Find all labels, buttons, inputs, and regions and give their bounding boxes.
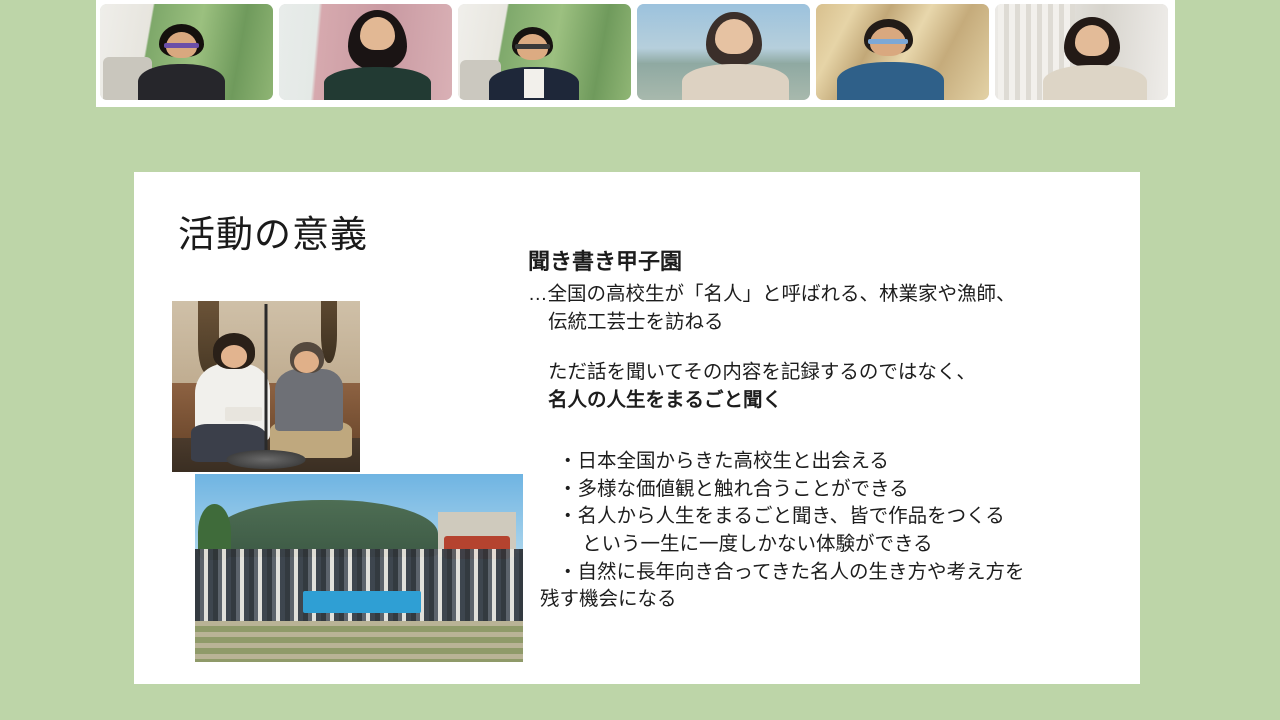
slide-paragraph-3: ただ話を聞いてその内容を記録するのではなく、 <box>528 358 1128 386</box>
slide-bullet-2: ・多様な価値観と触れ合うことができる <box>554 476 1154 504</box>
tile-body <box>837 62 944 100</box>
slide-bullet-1: ・日本全国からきた高校生と出会える <box>554 448 1154 476</box>
tile-body <box>1043 65 1147 100</box>
tile-body <box>682 64 789 100</box>
slide-title: 活動の意義 <box>178 204 368 258</box>
slide-bullet-3: ・名人から人生をまるごと聞き、皆で作品をつくる <box>554 503 1154 531</box>
slide-bullet-list: ・日本全国からきた高校生と出会える ・多様な価値観と触れ合うことができる ・名人… <box>554 448 1154 614</box>
video-tile-participant-2[interactable] <box>279 4 452 100</box>
photo-person-left-face <box>221 345 247 367</box>
slide-paragraph-4: 名人の人生をまるごと聞く <box>528 386 1128 414</box>
presentation-slide: 活動の意義 聞き書き甲子園 …全国の高校生が「名人」と呼ばれる、林業家や漁師、 … <box>134 172 1140 684</box>
tile-glasses-icon <box>515 44 550 49</box>
video-tile-participant-5[interactable] <box>816 4 989 100</box>
photo-banner <box>303 591 421 614</box>
slide-bullet-4: ・自然に長年向き合ってきた名人の生き方や考え方を <box>554 559 1154 587</box>
video-tile-participant-3[interactable] <box>458 4 631 100</box>
photo-microphone-stand <box>265 304 268 461</box>
paragraph-spacer <box>528 336 1128 358</box>
photo-ground <box>195 621 523 662</box>
photo-crowd <box>195 549 523 624</box>
photo-notebook <box>225 407 263 421</box>
photo-microphone-base <box>227 450 306 469</box>
participant-video-strip <box>96 0 1175 107</box>
slide-paragraph-2: 伝統工芸士を訪ねる <box>528 308 1128 336</box>
tile-body <box>138 64 225 100</box>
video-tile-participant-1[interactable] <box>100 4 273 100</box>
video-tile-participant-4[interactable] <box>637 4 810 100</box>
tile-collar <box>524 69 545 98</box>
photo-person-right-body <box>275 369 343 431</box>
photo-person-right-face <box>294 351 318 373</box>
tile-face <box>360 17 395 50</box>
tile-face <box>1075 25 1110 56</box>
slide-text-column: 聞き書き甲子園 …全国の高校生が「名人」と呼ばれる、林業家や漁師、 伝統工芸士を… <box>528 248 1128 415</box>
video-tile-participant-6[interactable] <box>995 4 1168 100</box>
tile-body <box>324 67 431 100</box>
tile-glasses-icon <box>868 39 908 44</box>
tile-glasses-icon <box>164 43 199 48</box>
slide-paragraph-1: …全国の高校生が「名人」と呼ばれる、林業家や漁師、 <box>528 280 1128 308</box>
tile-face <box>715 19 753 54</box>
slide-heading: 聞き書き甲子園 <box>528 248 1128 276</box>
slide-bullet-3-continuation: という一生に一度しかない体験ができる <box>554 531 1154 559</box>
group-photo <box>195 474 523 662</box>
slide-bullet-4-continuation: 残す機会になる <box>540 586 1154 614</box>
interview-photo <box>172 301 360 472</box>
